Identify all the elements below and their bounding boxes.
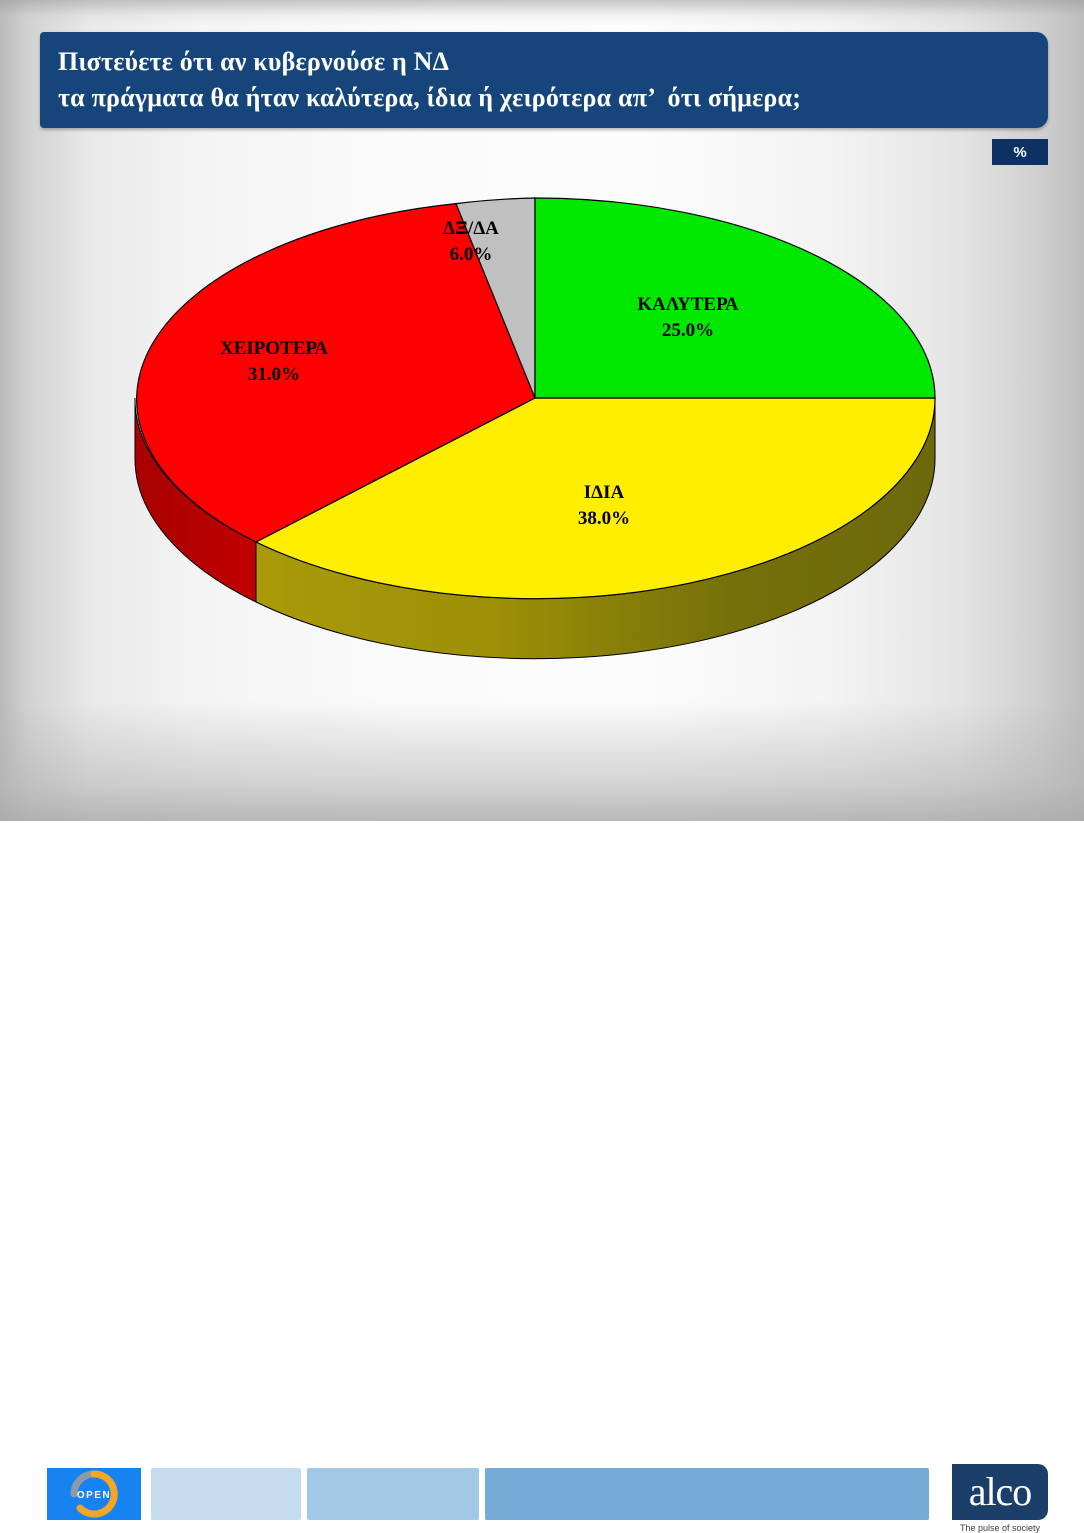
footer-bar-2: [307, 1468, 479, 1520]
footer-bar-3: [485, 1468, 929, 1520]
alco-tagline: The pulse of society: [952, 1523, 1048, 1533]
pie-label-xeirotera-name: ΧΕΙΡΟΤΕΡΑ: [220, 338, 328, 359]
open-logo-svg: OPEN: [47, 1468, 141, 1520]
pie-chart-svg: ΚΑΛΥΤΕΡΑ 25.0% ΙΔΙΑ 38.0% ΧΕΙΡΟΤΕΡΑ 31.0…: [0, 150, 1084, 710]
slide-title-banner: Πιστεύετε ότι αν κυβερνούσε η ΝΔ τα πράγ…: [40, 32, 1048, 128]
open-logo: OPEN: [47, 1468, 141, 1520]
slide: Πιστεύετε ότι αν κυβερνούσε η ΝΔ τα πράγ…: [0, 0, 1084, 821]
pie-label-idia-value: 38.0%: [578, 508, 630, 529]
percent-unit-badge: %: [992, 139, 1048, 165]
pie-label-kalytera-value: 25.0%: [662, 320, 714, 341]
alco-wordmark: alco: [969, 1472, 1032, 1512]
page-title-line-1: Πιστεύετε ότι αν κυβερνούσε η ΝΔ: [58, 44, 1030, 80]
pie-chart: ΚΑΛΥΤΕΡΑ 25.0% ΙΔΙΑ 38.0% ΧΕΙΡΟΤΕΡΑ 31.0…: [0, 150, 1084, 710]
footer-bar-1: [151, 1468, 301, 1520]
pie-label-idia-name: ΙΔΙΑ: [584, 482, 625, 503]
page-title-line-2: τα πράγματα θα ήταν καλύτερα, ίδια ή χει…: [58, 80, 1030, 116]
pie-label-dxda-value: 6.0%: [450, 244, 493, 265]
footer: OPEN alco The pulse of society: [0, 726, 1084, 821]
alco-logo: alco: [952, 1464, 1048, 1520]
pie-label-kalytera-name: ΚΑΛΥΤΕΡΑ: [637, 294, 739, 315]
pie-label-dxda-name: ΔΞ/ΔΑ: [443, 218, 499, 239]
pie-label-xeirotera-value: 31.0%: [248, 364, 300, 385]
open-logo-wordmark: OPEN: [77, 1490, 111, 1501]
